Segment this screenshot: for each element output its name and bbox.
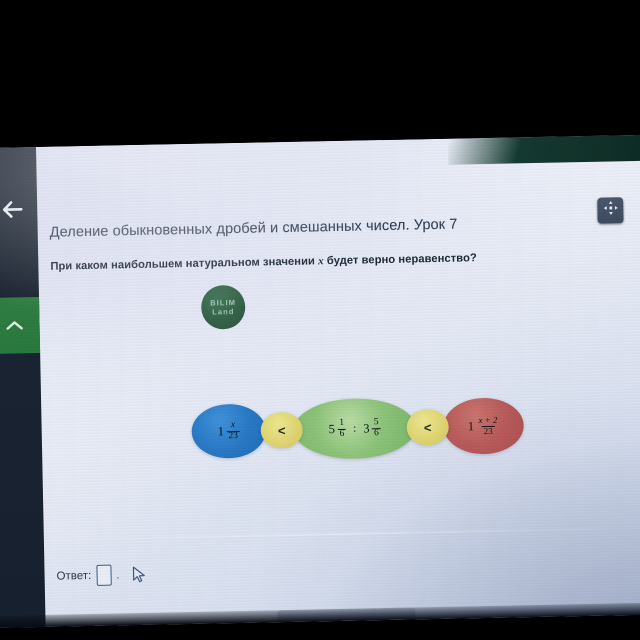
bilimland-logo: BILIM Land: [201, 285, 246, 330]
fullscreen-button[interactable]: [597, 197, 624, 224]
photographed-screen: Деление обыкновенных дробей и смешанных …: [0, 0, 640, 640]
mouse-pointer-icon: [131, 565, 147, 583]
answer-row: Ответ: .: [56, 564, 147, 587]
question-text: При каком наибольшем натуральном значени…: [50, 248, 640, 272]
lesson-content: Деление обыкновенных дробей и смешанных …: [36, 135, 640, 627]
division-operator: :: [353, 423, 356, 435]
left-denominator: 23: [226, 431, 240, 442]
left-numerator: x: [229, 421, 237, 431]
middle-first-whole: 5: [329, 423, 335, 436]
mixed-number-right: 1 x + 2 23: [468, 416, 500, 436]
monitor-bezel-top-right: [448, 135, 640, 165]
left-whole: 1: [217, 425, 223, 438]
back-button[interactable]: [0, 181, 38, 238]
question-text-part-1: При каком наибольшем натуральном значени…: [50, 255, 318, 272]
middle-first-numerator: 1: [337, 418, 346, 428]
right-numerator: x + 2: [476, 416, 499, 426]
page-title: Деление обыкновенных дробей и смешанных …: [50, 212, 640, 240]
inequality-diagram: 1 x 23 < 5 1 6: [191, 395, 524, 462]
inequality-middle-term: 5 1 6 : 3 5 6: [293, 397, 416, 459]
mixed-number-middle-1: 5 1 6: [328, 418, 346, 439]
right-fraction: x + 2 23: [476, 416, 499, 436]
middle-second-denominator: 6: [372, 428, 381, 439]
mixed-number-middle-2: 3 5 6: [363, 418, 381, 439]
inequality-left-term: 1 x 23: [191, 403, 266, 458]
middle-second-fraction: 5 6: [372, 418, 381, 439]
left-fraction: x 23: [226, 421, 240, 442]
chevron-up-icon: [5, 319, 23, 331]
logo-line-1: BILIM: [210, 298, 236, 308]
right-denominator: 23: [482, 426, 495, 436]
fullscreen-expand-icon: [603, 200, 618, 220]
middle-first-fraction: 1 6: [337, 418, 346, 439]
answer-label: Ответ:: [56, 569, 91, 582]
middle-second-numerator: 5: [372, 418, 381, 428]
question-text-part-2: будет верно неравенство?: [324, 252, 477, 267]
inequality-right-term: 1 x + 2 23: [443, 397, 524, 455]
answer-period: .: [116, 569, 119, 581]
middle-second-whole: 3: [363, 422, 369, 435]
answer-input[interactable]: [96, 565, 111, 586]
middle-first-denominator: 6: [337, 429, 346, 440]
inequality-operator-2: <: [406, 409, 449, 446]
arrow-left-icon: [1, 200, 23, 218]
inequality-operator-1: <: [260, 412, 303, 449]
right-whole: 1: [468, 420, 474, 433]
lesson-page: Деление обыкновенных дробей и смешанных …: [0, 135, 640, 628]
logo-line-2: Land: [212, 307, 235, 317]
monitor-surface: Деление обыкновенных дробей и смешанных …: [0, 135, 640, 628]
mixed-number-left: 1 x 23: [217, 421, 240, 442]
collapse-button[interactable]: [0, 297, 40, 354]
